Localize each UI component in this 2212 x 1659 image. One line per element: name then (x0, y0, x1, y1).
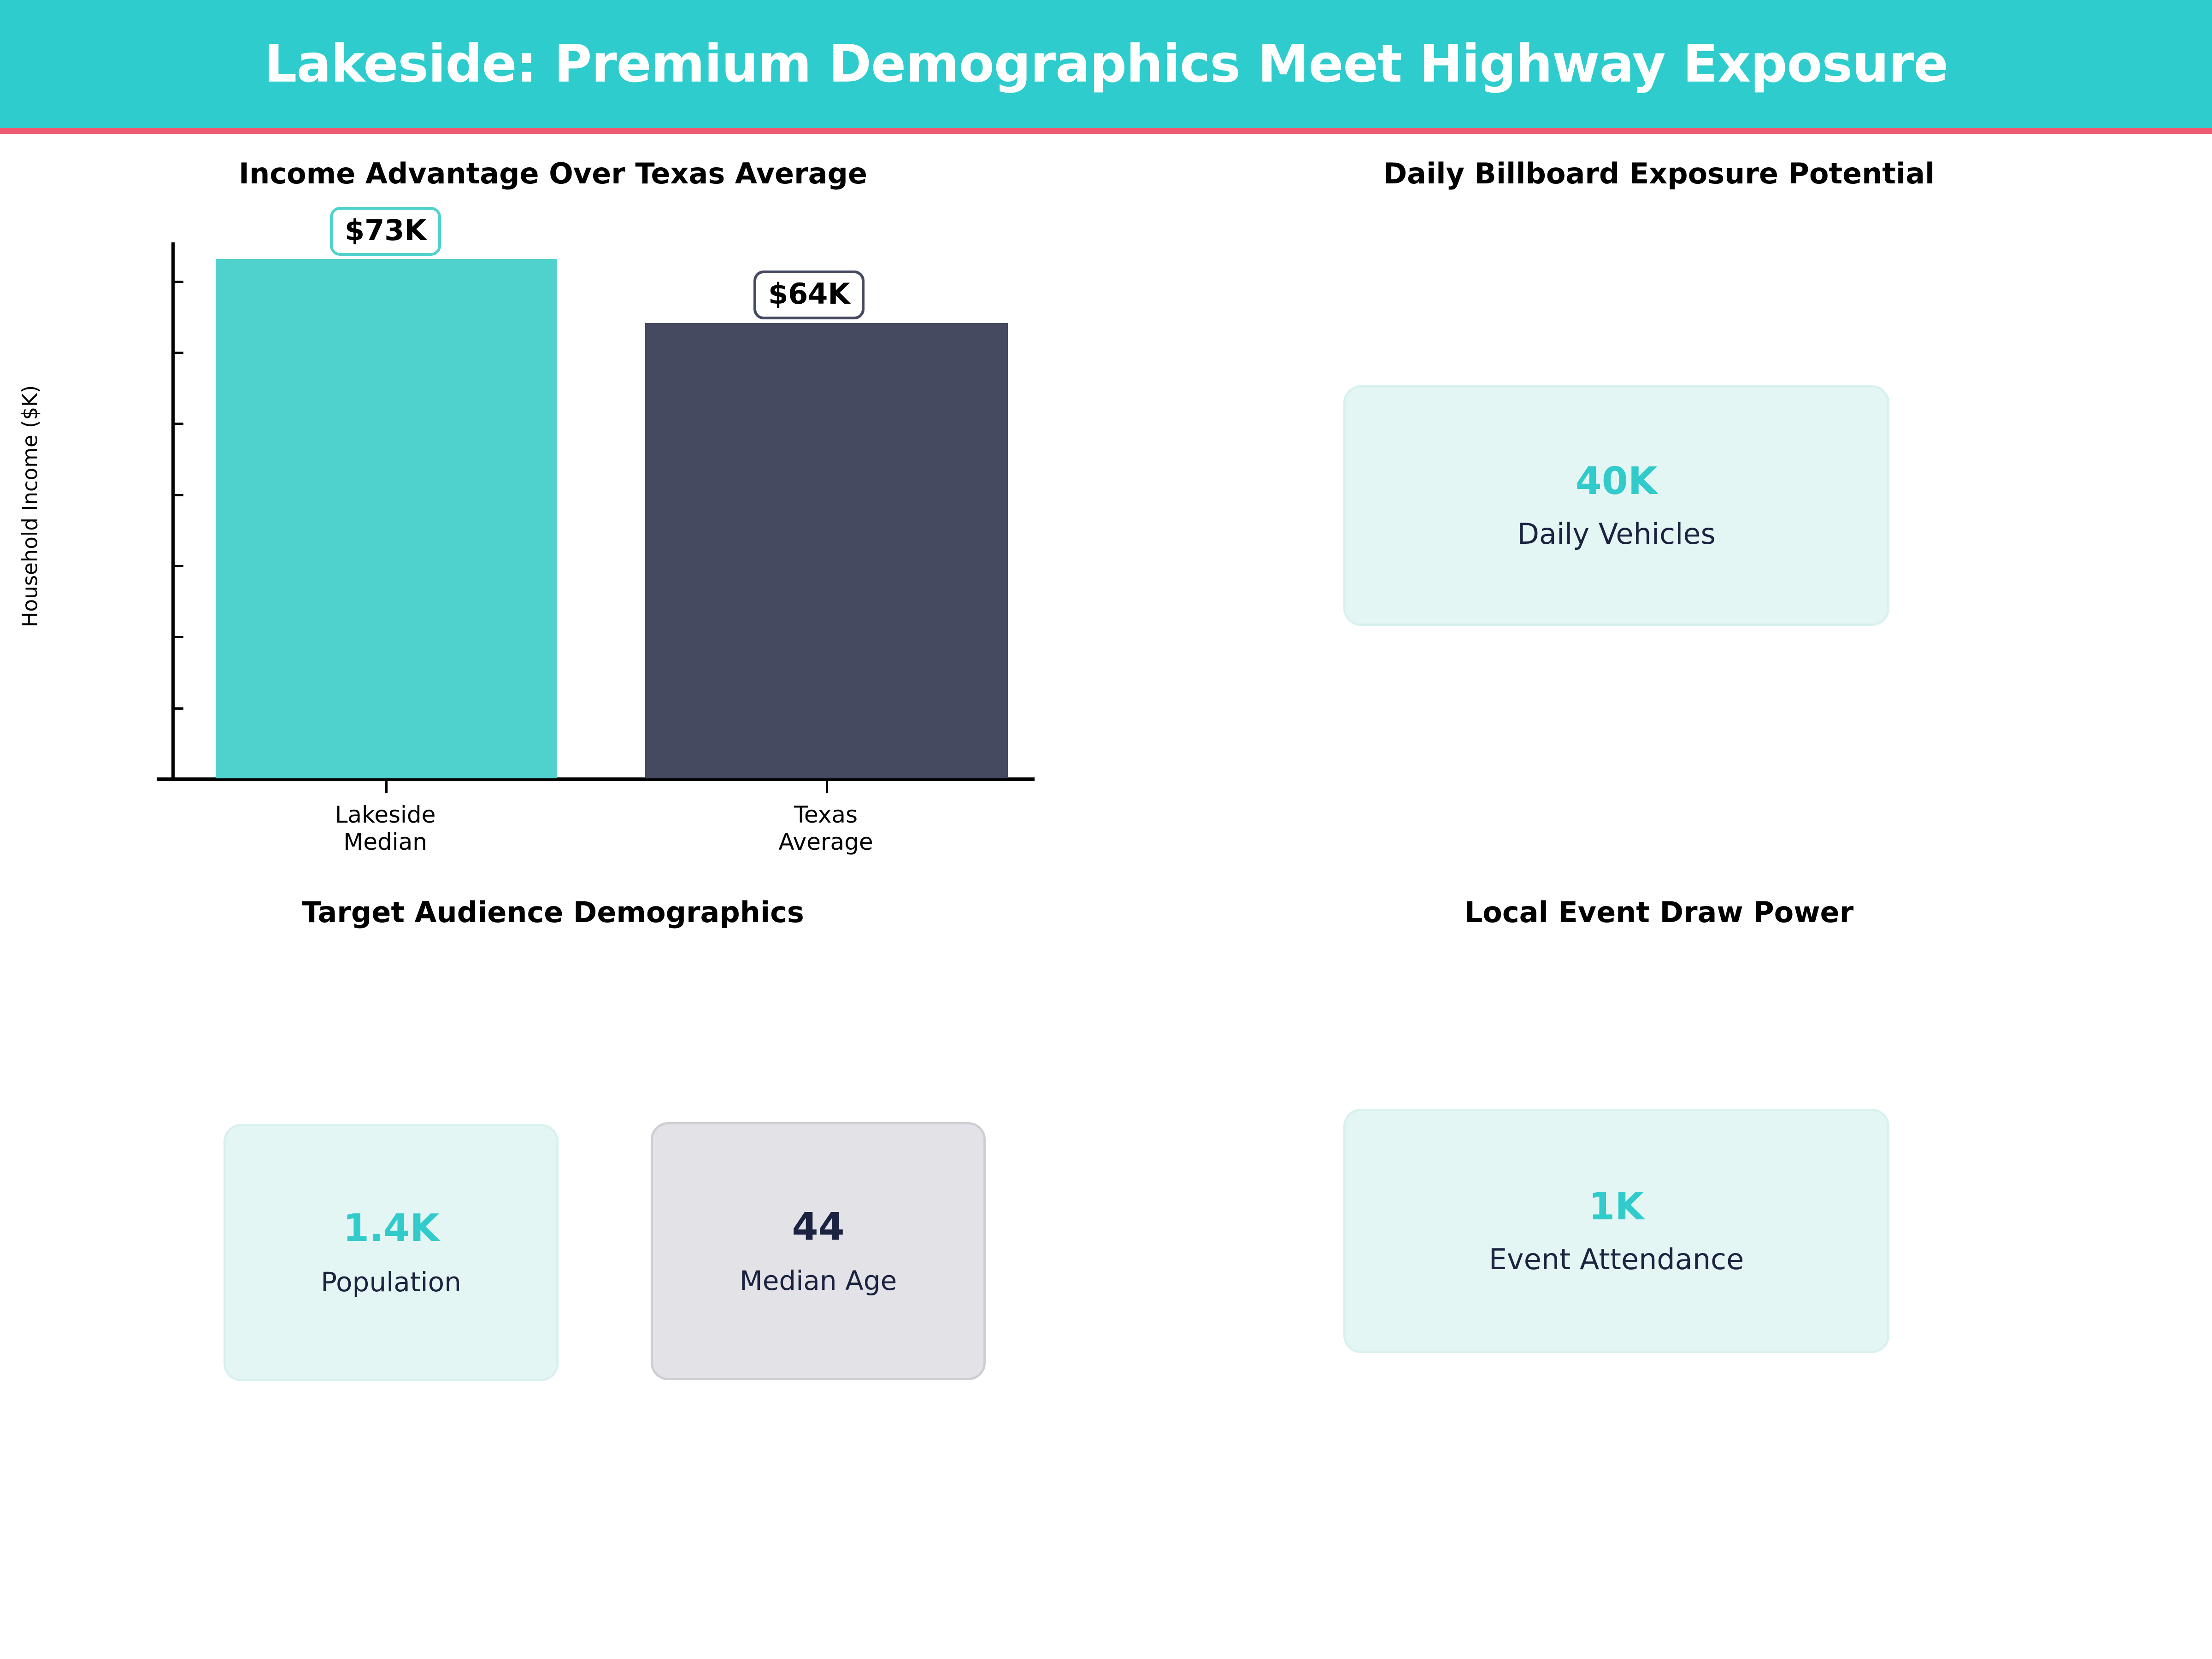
y-tick-40000 (171, 494, 183, 496)
header-accent-rule (0, 128, 2212, 134)
bar-value-label-texas: $64K (753, 271, 865, 319)
metric-card-population[interactable]: 1.4K Population (224, 1124, 559, 1381)
y-axis-line (171, 242, 175, 780)
y-axis-label: Household Income ($K) (20, 276, 41, 737)
x-tick-lakeside (385, 781, 388, 793)
x-tick-label-lakeside: Lakeside Median (247, 801, 524, 856)
panel-target-demographics: Target Audience Demographics 1.4K Popula… (0, 876, 1106, 1659)
metric-card-daily-vehicles[interactable]: 40K Daily Vehicles (1343, 385, 1889, 626)
panel-billboard-exposure: Daily Billboard Exposure Potential 40K D… (1106, 134, 2212, 876)
panel-local-event-draw: Local Event Draw Power 1K Event Attendan… (1106, 876, 2212, 1659)
panel-income-advantage: Income Advantage Over Texas Average Hous… (0, 134, 1106, 876)
y-tick-20000 (171, 636, 183, 638)
metric-value-event-attendance: 1K (1588, 1188, 1644, 1226)
metric-value-daily-vehicles: 40K (1576, 463, 1658, 500)
metric-label-daily-vehicles: Daily Vehicles (1517, 520, 1716, 548)
metric-value-median-age: 44 (792, 1208, 844, 1246)
bar-lakeside-median[interactable] (216, 259, 557, 778)
panel-title-event: Local Event Draw Power (1106, 898, 2212, 927)
panel-title-demographics: Target Audience Demographics (0, 898, 1106, 927)
metric-card-median-age[interactable]: 44 Median Age (651, 1122, 986, 1380)
metric-value-population: 1.4K (343, 1210, 439, 1247)
metric-label-median-age: Median Age (740, 1267, 897, 1294)
metric-card-event-attendance[interactable]: 1K Event Attendance (1343, 1109, 1889, 1353)
y-tick-30000 (171, 565, 183, 567)
x-tick-label-texas: Texas Average (688, 801, 964, 856)
y-tick-10000 (171, 707, 183, 710)
x-tick-texas (826, 781, 828, 793)
bar-texas-average[interactable] (645, 323, 1008, 778)
y-tick-50000 (171, 423, 183, 425)
page-title: Lakeside: Premium Demographics Meet High… (264, 38, 1948, 90)
y-tick-0 (171, 778, 183, 781)
y-tick-70000 (171, 281, 183, 283)
y-tick-60000 (171, 352, 183, 354)
bar-value-label-lakeside: $73K (330, 207, 441, 256)
metric-label-population: Population (321, 1269, 461, 1295)
header-banner: Lakeside: Premium Demographics Meet High… (0, 0, 2212, 128)
metric-label-event-attendance: Event Attendance (1489, 1245, 1744, 1274)
panel-title-billboard: Daily Billboard Exposure Potential (1106, 159, 2212, 188)
income-bar-chart: Household Income ($K) 0 10000 20000 3000… (0, 134, 1106, 876)
